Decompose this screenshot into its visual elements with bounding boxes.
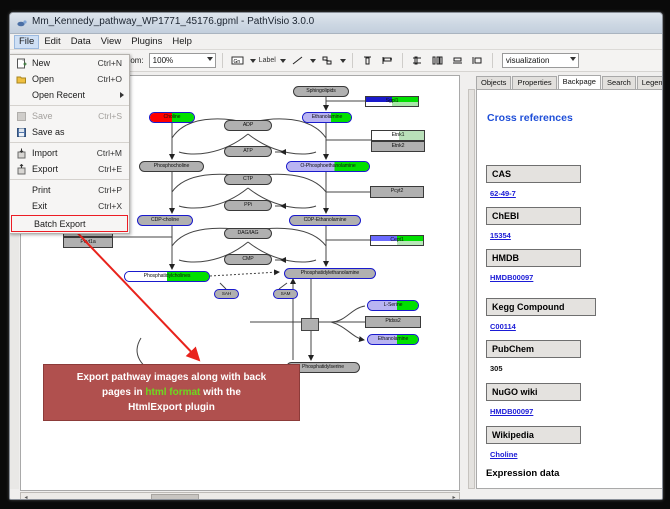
toolbar-separator-3 [402,53,403,68]
xref-block-pubchem: PubChem 305 [486,340,581,376]
expression-data-heading: Expression data [486,468,559,479]
pathway-node-pcyt1a[interactable]: Pcyt1a [63,237,113,248]
backpage-content: Cross references CAS 62-49-7 ChEBI 15354… [476,89,663,489]
export-icon [10,164,32,175]
open-folder-icon [10,74,32,85]
pathway-node-l-serine[interactable]: L-Serine [367,300,419,311]
import-icon [10,148,32,159]
menu-divider-2 [10,142,129,143]
tab-search[interactable]: Search [602,76,636,89]
pathway-node-phosphocholine[interactable]: Phosphocholine [139,161,204,172]
menu-item-export-label: Export [32,164,98,174]
annotation-line3: HtmlExport plugin [128,402,215,413]
annotation-line2-a: pages in [102,387,145,398]
scrollbar-thumb[interactable] [151,494,199,500]
menu-item-open[interactable]: Open Ctrl+O [10,71,129,87]
xref-block-kegg: Kegg Compound C00114 [486,298,596,334]
toolbar-separator-4 [492,53,493,68]
menu-item-exit-accel: Ctrl+X [98,201,129,211]
menu-item-save: Save Ctrl+S [10,108,129,124]
visualization-combobox[interactable]: visualization [502,53,579,68]
pathway-node-ppi[interactable]: PPi [224,200,272,211]
menu-item-open-accel: Ctrl+O [97,74,129,84]
side-panel: Objects Properties Backpage Search Legen… [466,75,663,489]
pathway-node-o-phosphoethanolamine[interactable]: O-Phosphoethanolamine [286,161,370,172]
canvas-horizontal-scrollbar[interactable]: ◂ ▸ [20,492,460,500]
menu-item-save-accel: Ctrl+S [98,111,129,121]
align-left-icon[interactable] [379,52,396,69]
menu-item-export-accel: Ctrl+E [98,164,129,174]
visualization-value: visualization [506,56,550,65]
submenu-chevron-right-icon [120,92,124,98]
xref-value-kegg[interactable]: C00114 [490,322,516,331]
menu-divider-3 [10,179,129,180]
label-tool-label[interactable]: Label [259,57,276,64]
menu-item-print[interactable]: Print Ctrl+P [10,182,129,198]
menu-divider-1 [10,105,129,106]
annotation-line1: Export pathway images along with back [77,372,267,383]
xref-label-kegg: Kegg Compound [486,298,596,316]
menu-help[interactable]: Help [167,35,197,49]
svg-text:Gn: Gn [233,59,240,65]
annotation-callout: Export pathway images along with back pa… [43,364,300,421]
xref-label-pubchem: PubChem [486,340,581,358]
pathway-node-ctp[interactable]: CTP [224,174,272,185]
pathway-node-sgpl1[interactable]: Sgpl1 [365,96,419,107]
pathway-node-ethanolamine-2[interactable]: Ethanolamine [367,334,419,345]
menu-edit[interactable]: Edit [39,35,65,49]
datanode-icon[interactable]: Gn [229,52,246,69]
xref-block-nugo: NuGO wiki HMDB00097 [486,383,581,419]
menubar: File Edit Data View Plugins Help [10,34,662,50]
xref-value-hmdb[interactable]: HMDB00097 [490,273,533,282]
menu-item-open-label: Open [32,74,97,84]
menu-item-batch-export-label: Batch Export [34,219,127,229]
align-top-icon[interactable] [359,52,376,69]
side-panel-tabs: Objects Properties Backpage Search Legen… [466,75,663,89]
xref-label-nugo: NuGO wiki [486,383,581,401]
stack-center-icon[interactable] [449,52,466,69]
pathway-node-phosphatidylethanolamine[interactable]: Phosphatidylethanolamine [284,268,376,279]
panel-resize-grip[interactable] [468,89,475,489]
tab-legend[interactable]: Legend [637,76,663,89]
window-title: Mm_Kennedy_pathway_WP1771_45176.gpml - P… [32,16,314,27]
pathway-anchor-box[interactable] [301,318,319,331]
visualization-chevron-down-icon [570,57,576,61]
line-icon[interactable] [289,52,306,69]
window-body: ▸ [10,72,662,500]
menu-item-print-accel: Ctrl+P [98,185,129,195]
menu-item-exit[interactable]: Exit Ctrl+X [10,198,129,214]
menu-item-save-label: Save [32,111,98,121]
window-titlebar: Mm_Kennedy_pathway_WP1771_45176.gpml - P… [10,13,662,34]
menu-item-import[interactable]: Import Ctrl+M [10,145,129,161]
menu-item-new[interactable]: New Ctrl+N [10,55,129,71]
anchor-chevron-down-icon[interactable] [340,59,346,63]
menu-item-print-label: Print [32,185,98,195]
pathway-node-adp[interactable]: ADP [224,120,272,131]
menu-plugins[interactable]: Plugins [126,35,167,49]
pathway-node-phosphatidylcholines[interactable]: Phosphatidylcholines [124,271,210,282]
align-vertical-icon[interactable] [429,52,446,69]
pathway-node-cdp-choline[interactable]: CDP-choline [137,215,193,226]
pathway-node-cdp-ethanolamine[interactable]: CDP-Ethanolamine [289,215,361,226]
menu-item-new-accel: Ctrl+N [98,58,129,68]
save-as-icon [10,127,32,138]
tab-objects[interactable]: Objects [476,76,511,89]
chevron-down-icon [207,57,213,61]
pathway-node-atp[interactable]: ATP [224,146,272,157]
menu-view[interactable]: View [96,35,126,49]
menu-item-save-as[interactable]: Save as [10,124,129,140]
xref-value-chebi[interactable]: 15354 [490,231,511,240]
pathway-node-sam[interactable]: SAM [273,289,298,299]
annotation-line2-b: with the [200,387,241,398]
label-chevron-down-icon[interactable] [280,59,286,63]
menu-file[interactable]: File [14,35,39,49]
toolbar-separator-2 [352,53,353,68]
scroll-right-icon[interactable]: ▸ [450,494,458,500]
menu-item-new-label: New [32,58,98,68]
pathway-node-choline[interactable]: Choline [149,112,195,123]
xref-block-cas: CAS 62-49-7 [486,165,581,201]
zoom-combobox[interactable]: 100% [149,53,216,68]
pathvisio-app-icon [16,17,28,29]
xref-label-chebi: ChEBI [486,207,581,225]
datanode-chevron-down-icon[interactable] [250,59,256,63]
common-width-icon[interactable] [469,52,486,69]
pathway-node-cmp[interactable]: CMP [224,254,272,265]
xref-block-chebi: ChEBI 15354 [486,207,581,243]
menu-item-export[interactable]: Export Ctrl+E [10,161,129,177]
menu-item-import-label: Import [32,148,97,158]
pathway-node-sah[interactable]: SAH [214,289,239,299]
menu-item-open-recent-label: Open Recent [32,90,129,100]
xref-label-cas: CAS [486,165,581,183]
menu-item-exit-label: Exit [32,201,98,211]
line-chevron-down-icon[interactable] [310,59,316,63]
menu-item-import-accel: Ctrl+M [97,148,129,158]
pathway-node-ptdss2[interactable]: Ptdss2 [365,316,421,328]
pathway-node-etnk1[interactable]: Etnk1 [371,130,425,141]
pathway-node-etnk2[interactable]: Etnk2 [371,141,425,152]
xref-block-hmdb: HMDB HMDB00097 [486,249,581,285]
scroll-left-icon[interactable]: ◂ [22,494,30,500]
tab-backpage[interactable]: Backpage [558,75,601,89]
pathway-node-dag-iag[interactable]: DAG/IAG [224,228,272,239]
xref-block-wikipedia: Wikipedia Choline [486,426,581,462]
xref-value-cas[interactable]: 62-49-7 [490,189,516,198]
toolbar-separator [222,53,223,68]
align-middle-icon[interactable] [409,52,426,69]
xref-value-pubchem: 305 [490,364,503,373]
menu-item-open-recent[interactable]: Open Recent [10,87,129,103]
zoom-value: 100% [153,56,173,65]
save-icon [10,111,32,122]
pathway-node-pcyt2[interactable]: Pcyt2 [370,186,424,198]
tab-properties[interactable]: Properties [512,76,556,89]
xref-value-nugo[interactable]: HMDB00097 [490,407,533,416]
pathway-node-sphingolipids[interactable]: Sphingolipids [293,86,349,97]
pathvisio-window: Mm_Kennedy_pathway_WP1771_45176.gpml - P… [9,12,663,500]
xref-label-wikipedia: Wikipedia [486,426,581,444]
cross-references-heading: Cross references [487,112,573,124]
menu-item-batch-export[interactable]: Batch Export [11,215,128,232]
new-file-icon [10,58,32,69]
menu-data[interactable]: Data [66,35,96,49]
screenshot-root: Mm_Kennedy_pathway_WP1771_45176.gpml - P… [0,0,670,509]
pathway-node-cept1[interactable]: Cept1 [370,235,424,246]
pathway-node-ethanolamine-1[interactable]: Ethanolamine [302,112,352,123]
xref-label-hmdb: HMDB [486,249,581,267]
xref-value-wikipedia[interactable]: Choline [490,450,518,459]
file-menu-dropdown[interactable]: New Ctrl+N Open Ctrl+O Open Recent [9,54,130,234]
annotation-highlight: html format [145,387,200,398]
menu-item-save-as-label: Save as [32,127,122,137]
anchor-icon[interactable] [319,52,336,69]
